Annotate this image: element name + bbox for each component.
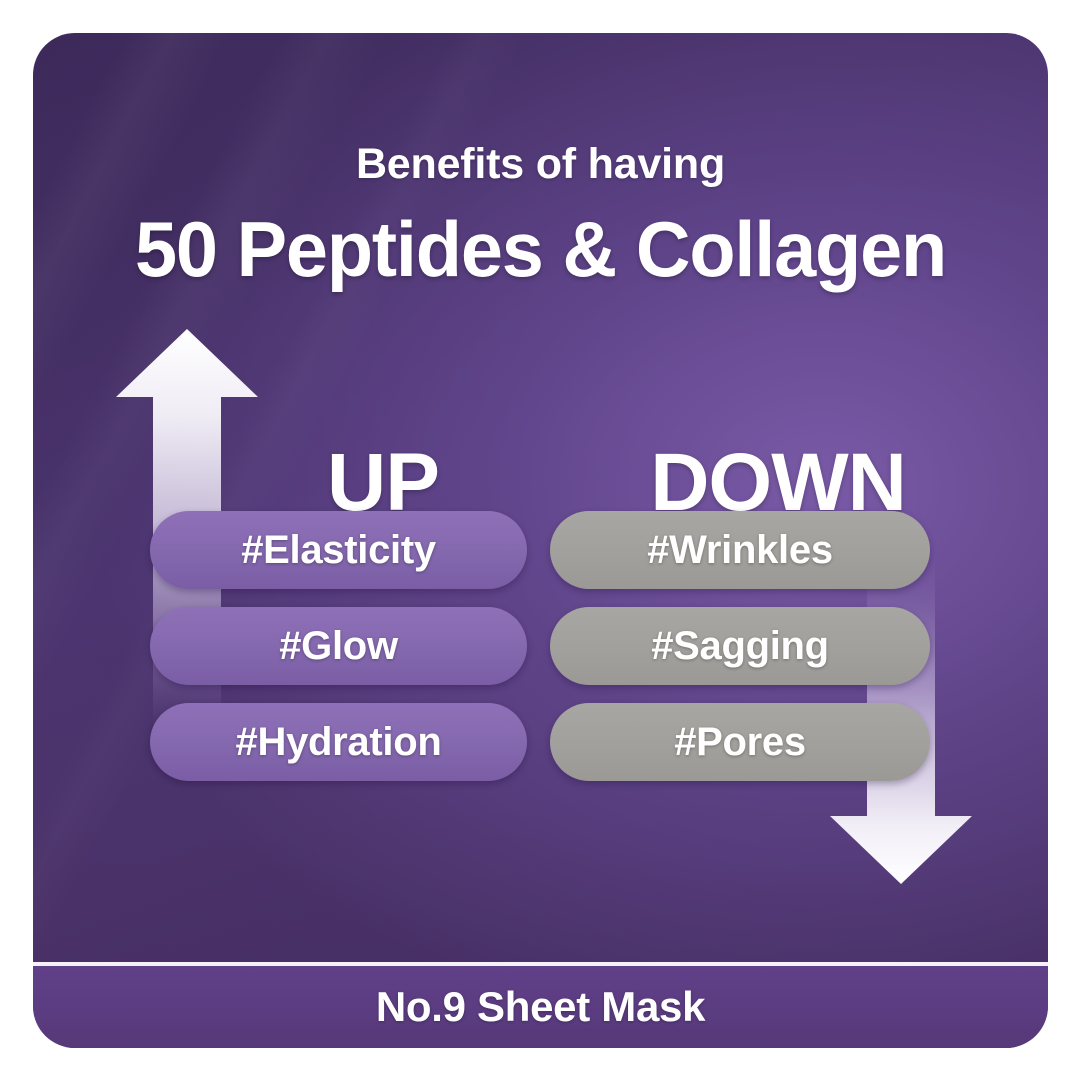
card-title: 50 Peptides & Collagen [48, 210, 1033, 288]
product-name: No.9 Sheet Mask [376, 983, 705, 1031]
pill-item[interactable]: #Elasticity [150, 511, 527, 589]
benefits-card: Benefits of having 50 Peptides & Collage… [33, 33, 1048, 1048]
pill-columns: #Elasticity #Glow #Hydration #Wrinkles #… [33, 511, 1048, 801]
pill-item[interactable]: #Glow [150, 607, 527, 685]
infographic-canvas: Benefits of having 50 Peptides & Collage… [0, 0, 1080, 1080]
heading-block: Benefits of having 50 Peptides & Collage… [33, 143, 1048, 288]
footer-bar: No.9 Sheet Mask [33, 966, 1048, 1048]
pill-column-down: #Wrinkles #Sagging #Pores [550, 511, 930, 781]
pill-item[interactable]: #Wrinkles [550, 511, 930, 589]
pill-item[interactable]: #Sagging [550, 607, 930, 685]
pill-item[interactable]: #Pores [550, 703, 930, 781]
card-subtitle: Benefits of having [33, 143, 1048, 186]
pill-column-up: #Elasticity #Glow #Hydration [150, 511, 527, 781]
pill-item[interactable]: #Hydration [150, 703, 527, 781]
